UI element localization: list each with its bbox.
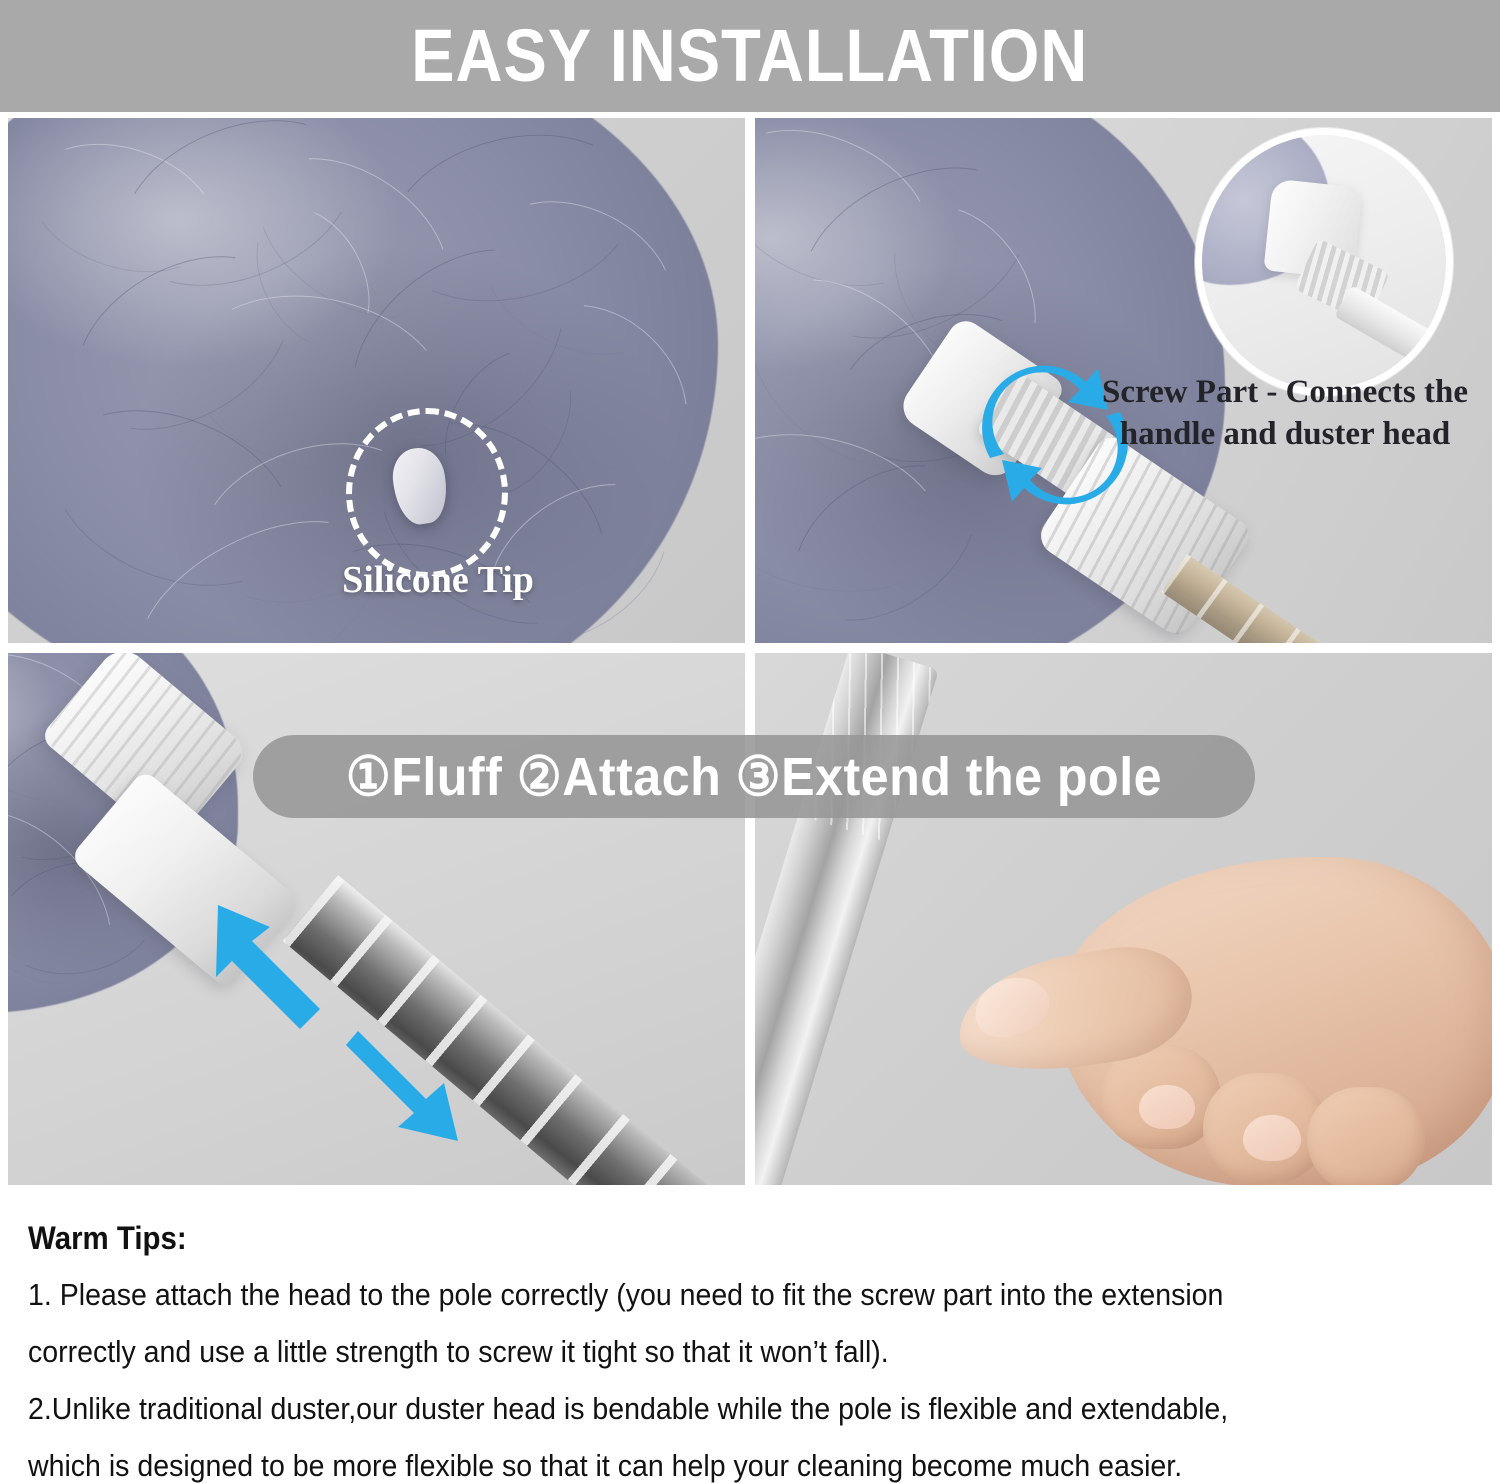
warm-tips-line: correctly and use a little strength to s…: [28, 1336, 1356, 1367]
screw-part-zoom-inset: [1195, 128, 1453, 396]
panel-duster-head: Silicone Tip: [8, 118, 745, 643]
warm-tips-line: 2.Unlike traditional duster,our duster h…: [28, 1393, 1356, 1424]
finger-nail: [1243, 1115, 1301, 1161]
panel-extend-pole: [8, 653, 745, 1185]
inset-stem: [1334, 285, 1435, 364]
thumb-nail: [966, 967, 1057, 1047]
extend-double-arrow-icon: [208, 883, 488, 1153]
page-title: EASY INSTALLATION: [411, 19, 1088, 93]
warm-tips-section: Warm Tips: 1. Please attach the head to …: [0, 1190, 1500, 1480]
hand-gripping-pole: [951, 849, 1492, 1185]
header-banner: EASY INSTALLATION: [0, 0, 1500, 112]
panel-hand-grip: [755, 653, 1492, 1185]
warm-tips-line: 1. Please attach the head to the pole co…: [28, 1279, 1356, 1310]
warm-tips-line: which is designed to be more flexible so…: [28, 1450, 1356, 1481]
finger-nail: [1139, 1085, 1195, 1129]
panel-screw-part: Screw Part - Connects the handle and dus…: [755, 118, 1492, 643]
photo-grid: Silicone Tip: [0, 118, 1500, 1185]
warm-tips-title: Warm Tips:: [28, 1220, 1356, 1257]
silicone-tip-label: Silicone Tip: [308, 558, 568, 602]
dashed-circle-highlight-icon: [346, 408, 508, 578]
steps-banner: ①Fluff ②Attach ③Extend the pole: [253, 735, 1255, 818]
steps-text: ①Fluff ②Attach ③Extend the pole: [346, 750, 1162, 804]
infographic-page: EASY INSTALLATION: [0, 0, 1500, 1480]
finger-knuckle: [1307, 1087, 1425, 1185]
screw-part-label: Screw Part - Connects the handle and dus…: [1085, 371, 1485, 455]
